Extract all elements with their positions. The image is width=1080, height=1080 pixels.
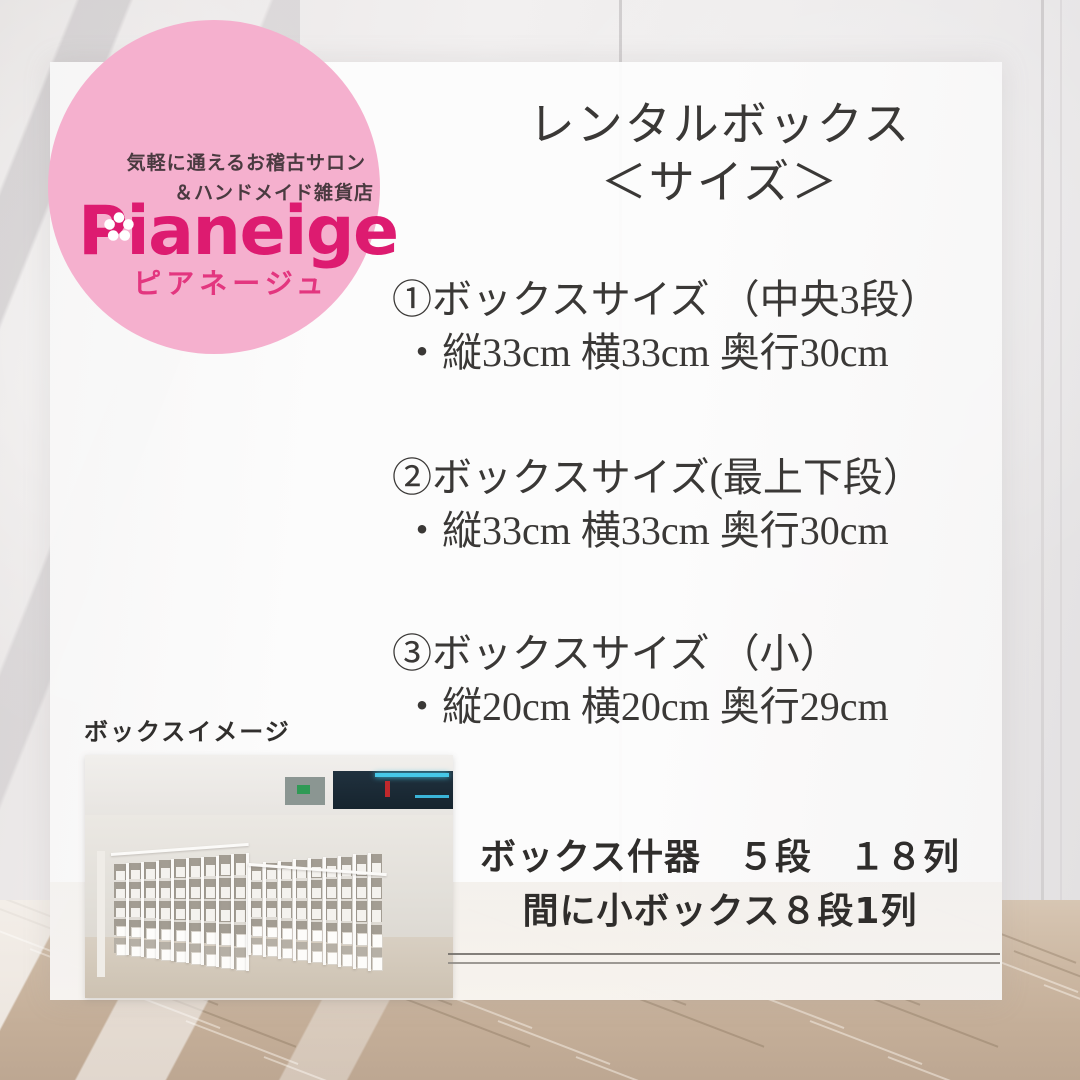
shelf-storage-box [191, 931, 202, 944]
shelf-divider [278, 861, 281, 960]
shelf-divider [156, 861, 159, 960]
shelf-display-item [116, 889, 125, 898]
shelf-display-item [327, 909, 336, 920]
brand-logo-inner: 気軽に通えるお稽古サロン ＆ハンドメイド雑貨店 Pianeige [48, 20, 380, 354]
shelf-display-item [312, 888, 321, 899]
shelf-storage-box [161, 949, 172, 961]
shelf-storage-box [146, 928, 157, 940]
spec-item-1: ①ボックスサイズ （中央3段） ・縦33cm 横33cm 奥行30cm [392, 274, 992, 380]
shelf-display-item [176, 909, 185, 920]
spec-heading: ③ボックスサイズ （小） [392, 628, 992, 680]
flower-icon [104, 212, 134, 242]
shelf-display-item [206, 865, 215, 876]
shelf-storage-box [342, 954, 353, 967]
shelf-storage-box [236, 934, 247, 948]
shelf-divider [171, 859, 174, 961]
shelf-storage-box [176, 951, 187, 964]
shelf-display-item [161, 868, 170, 878]
shelf-storage-box [312, 951, 323, 964]
shelf-display-item [221, 910, 230, 921]
shelf-display-item [267, 889, 276, 899]
shelf-storage-box [161, 929, 172, 941]
shelf-divider [248, 863, 251, 955]
shelf-display-item [221, 887, 230, 898]
shelf-storage-box [206, 954, 217, 967]
shelf-storage-box [297, 949, 308, 961]
shelf-display-item [191, 866, 200, 877]
shelf-storage-box [206, 932, 217, 945]
shelf-storage-box [342, 932, 353, 945]
shelf-storage-box [236, 957, 247, 971]
shelf-storage-box [282, 928, 293, 940]
spec-dimensions: ・縦33cm 横33cm 奥行30cm [392, 326, 992, 380]
shelf-display-item [252, 889, 261, 898]
shelf-divider [186, 858, 189, 963]
shelf-display-item [236, 887, 245, 899]
shelf-display-item [116, 871, 125, 880]
shelf-display-item [146, 908, 155, 918]
background-rail-upper [448, 953, 1000, 955]
photo-neon-light-2 [415, 795, 449, 798]
footer-line-2: 間に小ボックス８段1列 [440, 882, 1000, 934]
shelf-display-item [206, 887, 215, 898]
shelf-storage-box [116, 926, 127, 937]
poster-canvas: 気軽に通えるお稽古サロン ＆ハンドメイド雑貨店 Pianeige [0, 0, 1080, 1080]
shelf-display-item [282, 888, 291, 898]
spec-heading: ①ボックスサイズ （中央3段） [392, 274, 992, 326]
shelf-display-item [342, 909, 351, 920]
wall-seam-far-right [1060, 0, 1062, 905]
shelf-divider [231, 854, 234, 969]
shelf-storage-box [146, 948, 157, 960]
shelf-display-item [221, 864, 230, 875]
photo-red-sign [385, 781, 390, 797]
shelf-storage-box [327, 952, 338, 965]
shelf-storage-box [312, 930, 323, 943]
shelf-display-item [357, 910, 366, 921]
spec-item-3: ③ボックスサイズ （小） ・縦20cm 横20cm 奥行29cm [392, 628, 992, 734]
spec-dimensions: ・縦33cm 横33cm 奥行30cm [392, 504, 992, 558]
shelf-storage-box [357, 956, 368, 969]
shelf-display-item [372, 887, 381, 899]
shelf-storage-box [282, 948, 293, 960]
shelf-display-item [357, 887, 366, 898]
shelf-storage-box [267, 927, 278, 939]
page-title-line-1: レンタルボックス [440, 96, 1000, 154]
shelf-divider [323, 857, 326, 965]
shelf-display-item [297, 908, 306, 918]
spec-heading: ②ボックスサイズ(最上下段） [392, 452, 992, 504]
shelf-storage-box [116, 944, 127, 955]
shelf-storage-box [252, 944, 263, 955]
shelf-divider [263, 862, 266, 957]
shelf-display-item [116, 908, 125, 917]
shelf-display-item [146, 888, 155, 898]
page-title-line-2: ＜サイズ＞ [440, 154, 1000, 212]
shelf-display-item [312, 909, 321, 920]
shelf-display-item [252, 908, 261, 917]
brand-tagline-1: 気軽に通えるお稽古サロン [48, 148, 366, 175]
shelf-display-item [267, 870, 276, 880]
shelf-display-item [297, 888, 306, 898]
shelf-display-item [372, 910, 381, 922]
shelf-display-item [282, 908, 291, 918]
shelf-display-item [131, 870, 140, 880]
shelf-storage-box [252, 926, 263, 937]
shelf-storage-box [221, 956, 232, 969]
shelf-display-item [191, 887, 200, 898]
box-shelving-photo [85, 755, 453, 998]
photo-shelving-unit [99, 851, 395, 973]
shelf-storage-box [176, 930, 187, 943]
shelf-display-item [236, 910, 245, 922]
shelf-storage-box [131, 946, 142, 958]
shelf-divider [293, 859, 296, 961]
footer-line-1: ボックス什器 ５段 １８列 [440, 828, 1000, 880]
shelf-divider [141, 862, 144, 957]
shelf-display-item [131, 889, 140, 899]
shelf-display-item [206, 909, 215, 920]
shelf-storage-box [372, 957, 383, 971]
shelf-storage-box [372, 934, 383, 948]
shelf-storage-box [191, 952, 202, 965]
shelf-display-item [176, 888, 185, 899]
shelf-display-item [131, 908, 140, 918]
brand-logo-badge[interactable]: 気軽に通えるお稽古サロン ＆ハンドメイド雑貨店 Pianeige [48, 20, 380, 354]
shelf-storage-box [357, 933, 368, 946]
shelf-display-item [176, 867, 185, 878]
shelf-display-item [236, 863, 245, 875]
shelf-display-item [252, 871, 261, 880]
background-rail-lower [448, 962, 1000, 964]
shelf-display-item [161, 888, 170, 898]
shelf-storage-box [131, 927, 142, 939]
shelf-display-item [267, 908, 276, 918]
page-title: レンタルボックス ＜サイズ＞ [440, 96, 1000, 212]
shelf-display-item [161, 908, 170, 918]
shelf-divider [126, 863, 129, 955]
shelf-storage-box [327, 931, 338, 944]
shelf-storage-box [267, 946, 278, 958]
photo-neon-light [375, 773, 449, 777]
shelf-storage-box [297, 929, 308, 941]
shelf-storage-box [221, 933, 232, 946]
shelf-divider [201, 857, 204, 965]
shelf-divider [308, 858, 311, 963]
shelf-display-item [191, 909, 200, 920]
wall-seam-right [1041, 0, 1044, 905]
spec-item-2: ②ボックスサイズ(最上下段） ・縦33cm 横33cm 奥行30cm [392, 452, 992, 558]
brand-kana: ピアネージュ [48, 262, 380, 302]
shelf-display-item [327, 887, 336, 898]
shelf-divider [368, 853, 371, 971]
photo-exit-sign [297, 785, 310, 794]
shelf-divider [216, 856, 219, 968]
photo-caption: ボックスイメージ [84, 712, 291, 747]
shelf-display-item [146, 869, 155, 879]
spec-dimensions: ・縦20cm 横20cm 奥行29cm [392, 680, 992, 734]
shelf-display-item [342, 887, 351, 898]
shelf-display-item [282, 869, 291, 879]
